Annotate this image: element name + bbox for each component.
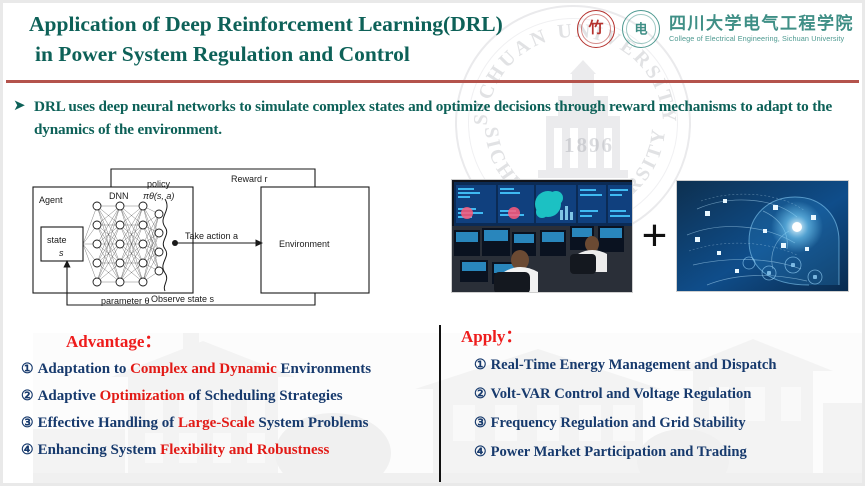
drl-diagram-svg: Reward r Agent state s DNN policy πθ(s, … [25,161,383,313]
sichuan-university-logo-glyph: 竹 [578,22,614,37]
agent-label: Agent [39,195,63,205]
control-room-photo-svg [452,180,633,293]
ai-brain-photo [676,180,849,292]
advantage-item-text: Adaptation to Complex and Dynamic Enviro… [38,356,372,383]
slide-title: Application of Deep Reinforcement Learni… [29,9,629,69]
apply-item-number: ② [474,380,487,409]
plus-symbol: + [633,221,676,252]
title-line-1: Application of Deep Reinforcement Learni… [29,9,629,39]
intro-text: DRL uses deep neural networks to simulat… [34,95,859,141]
state-variable-label: s [59,248,64,258]
apply-list: ①Real-Time Energy Management and Dispatc… [461,351,861,467]
school-name-block: 四川大学电气工程学院 College of Electrical Enginee… [669,14,854,44]
apply-section: Apply： ①Real-Time Energy Management and … [461,325,861,467]
advantage-item-number: ② [21,383,34,410]
column-divider [439,325,441,482]
advantage-item: ④Enhancing System Flexibility and Robust… [21,437,433,464]
policy-label: policy [147,179,171,189]
advantage-item-number: ④ [21,437,34,464]
apply-item-text: Real-Time Energy Management and Dispatch [491,351,777,380]
apply-item: ①Real-Time Energy Management and Dispatc… [461,351,861,380]
state-label: state [47,235,67,245]
apply-item-text: Power Market Participation and Trading [491,438,747,467]
slide-canvas: SICHUAN UNIVERSITY SICHUAN UNIVERSITY 18… [0,0,865,486]
advantage-item: ①Adaptation to Complex and Dynamic Envir… [21,356,433,383]
advantage-section: Advantage： ①Adaptation to Complex and Dy… [21,330,433,464]
title-line-2: in Power System Regulation and Control [29,39,629,69]
reward-label: Reward r [231,174,268,184]
header-divider-rule [6,80,859,83]
bullet-arrow-icon: ➤ [13,95,34,141]
take-action-label: Take action a [185,231,238,241]
apply-item-number: ③ [474,409,487,438]
university-branding: 竹 电 四川大学电气工程学院 College of Electrical Eng… [577,10,854,48]
policy-formula-label: πθ(s, a) [143,191,174,201]
advantage-item-text: Effective Handling of Large-Scale System… [38,410,369,437]
drl-architecture-diagram: Reward r Agent state s DNN policy πθ(s, … [25,161,383,313]
illustration-row: + [451,178,849,294]
apply-item: ④Power Market Participation and Trading [461,438,861,467]
college-logo-glyph: 电 [623,23,659,36]
apply-item: ②Volt-VAR Control and Voltage Regulation [461,380,861,409]
apply-item-text: Volt-VAR Control and Voltage Regulation [491,380,752,409]
ai-brain-photo-svg [677,181,849,292]
school-name-cn: 四川大学电气工程学院 [669,14,854,34]
environment-label: Environment [279,239,330,249]
advantage-item: ②Adaptive Optimization of Scheduling Str… [21,383,433,410]
parameter-label: parameter θ [101,296,150,306]
intro-bullet: ➤ DRL uses deep neural networks to simul… [13,95,859,141]
control-room-photo [451,179,633,293]
apply-item: ③Frequency Regulation and Grid Stability [461,409,861,438]
advantage-item: ③Effective Handling of Large-Scale Syste… [21,410,433,437]
policy-output-node [172,240,178,246]
apply-item-text: Frequency Regulation and Grid Stability [491,409,746,438]
advantage-item-text: Adaptive Optimization of Scheduling Stra… [38,383,343,410]
apply-item-number: ① [474,351,487,380]
school-name-en: College of Electrical Engineering, Sichu… [669,34,854,44]
advantage-item-text: Enhancing System Flexibility and Robustn… [38,437,330,464]
college-logo-icon: 电 [622,10,660,48]
dnn-label: DNN [109,191,129,201]
sichuan-university-logo-icon: 竹 [577,10,615,48]
advantage-list: ①Adaptation to Complex and Dynamic Envir… [21,356,433,464]
apply-heading: Apply： [461,325,861,349]
advantage-heading: Advantage： [21,330,433,354]
apply-item-number: ④ [474,438,487,467]
observe-state-label: Observe state s [151,294,215,304]
advantage-item-number: ① [21,356,34,383]
advantage-item-number: ③ [21,410,34,437]
